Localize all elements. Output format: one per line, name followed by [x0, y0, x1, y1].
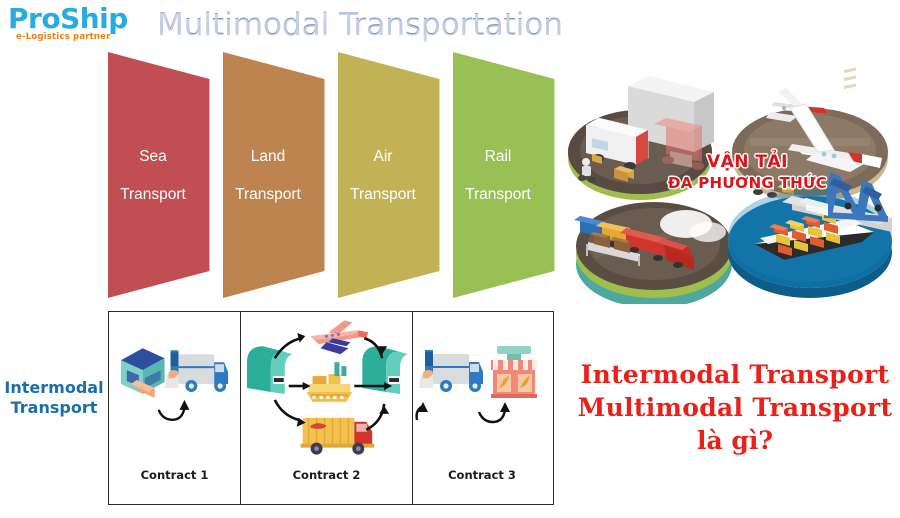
cargo-truck-icon [301, 418, 375, 455]
poster-canvas: ProShip e-Logistics partner Multimodal T… [0, 0, 900, 518]
mode-rail-transport[interactable]: Rail Transport [453, 52, 571, 298]
contract-box-3[interactable]: Contract 3 [413, 312, 551, 504]
intermodal-label-line2: Transport [2, 398, 106, 418]
contract-box-1[interactable]: Contract 1 [109, 312, 241, 504]
logo-wordmark: ProShip [8, 4, 140, 34]
contract-2-label: Contract 2 [241, 468, 412, 482]
mode-label-line1: Sea [120, 147, 186, 166]
mode-air-transport[interactable]: Air Transport [338, 52, 456, 298]
train-scene [574, 202, 732, 304]
curved-arrow-icon [417, 406, 505, 422]
mode-label-line2: Transport [235, 185, 301, 204]
warehouse-icon [247, 346, 293, 394]
delivery-truck-icon [165, 350, 229, 392]
intermodal-transport-label: Intermodal Transport [2, 378, 106, 418]
cargo-ship-icon [307, 362, 353, 402]
delivery-truck-icon [419, 350, 483, 392]
intermodal-label-line1: Intermodal [2, 378, 106, 398]
question-headline: Intermodal Transport Multimodal Transpor… [572, 358, 898, 457]
mode-label-line1: Rail [465, 147, 531, 166]
contract-2-illustration [241, 318, 412, 458]
mode-label-line1: Air [350, 147, 416, 166]
caption-line-1: VẬN TẢI [640, 152, 855, 173]
contract-3-illustration [413, 318, 551, 458]
airplane-icon [311, 320, 369, 354]
intermodal-contracts-diagram: Contract 1 [108, 311, 554, 505]
logo-text: ProShip [8, 2, 128, 35]
contract-box-2[interactable]: Contract 2 [241, 312, 413, 504]
contract-1-illustration [109, 318, 240, 458]
storefront-icon [491, 346, 537, 398]
page-title: Multimodal Transportation [140, 6, 580, 44]
arrow-head-icon [179, 400, 189, 410]
mode-label-line2: Transport [350, 185, 416, 204]
contract-3-label: Contract 3 [413, 468, 551, 482]
caption-line-2: ĐA PHƯƠNG THỨC [640, 173, 855, 194]
warehouse-icon [121, 348, 165, 398]
mode-label-line1: Land [235, 147, 301, 166]
mode-sea-transport[interactable]: Sea Transport [108, 52, 226, 298]
transport-modes-band: Sea Transport Land Transport Air Transpo… [108, 52, 568, 298]
question-line-1: Intermodal Transport [572, 358, 898, 391]
proship-logo[interactable]: ProShip e-Logistics partner [8, 4, 140, 48]
contract-1-label: Contract 1 [109, 468, 240, 482]
mode-land-transport[interactable]: Land Transport [223, 52, 341, 298]
question-line-3: là gì? [572, 424, 898, 457]
mode-label-line2: Transport [120, 185, 186, 204]
illustration-caption: VẬN TẢI ĐA PHƯƠNG THỨC [640, 152, 855, 194]
question-line-2: Multimodal Transport [572, 391, 898, 424]
mode-label-line2: Transport [465, 185, 531, 204]
